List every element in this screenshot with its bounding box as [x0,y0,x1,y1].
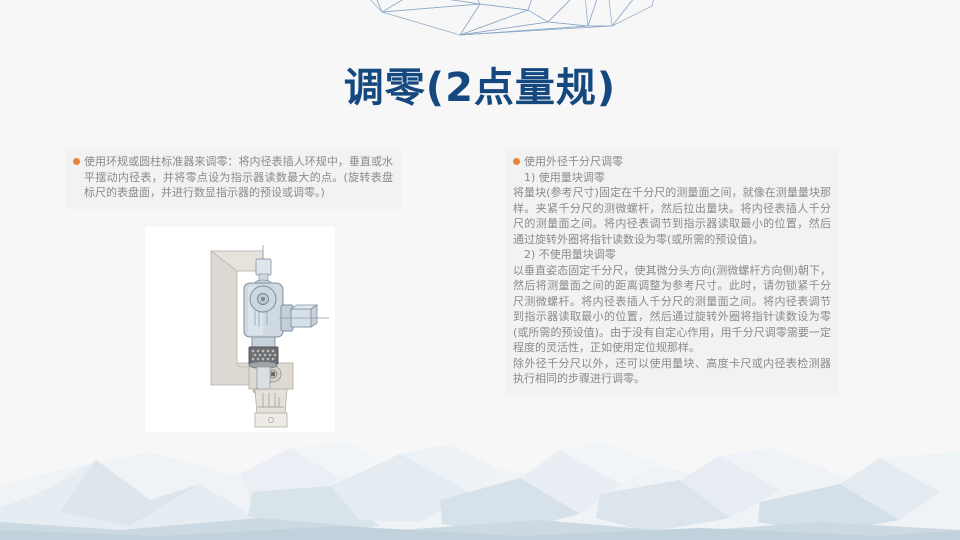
right-text-card: 使用外径千分尺调零 1) 使用量块调零 将量块(参考尺寸)固定在千分尺的测量面之… [505,148,839,395]
right-column: 使用外径千分尺调零 1) 使用量块调零 将量块(参考尺寸)固定在千分尺的测量面之… [505,148,839,395]
section-1-body: 将量块(参考尺寸)固定在千分尺的测量面之间，就像在测量量块那样。夹紧千分尺的测微… [513,185,831,247]
right-bullet-heading: 使用外径千分尺调零 [513,154,831,170]
low-poly-wireframe-graphic [352,0,662,46]
left-text-card: 使用环规或圆柱标准器来调零：将内径表插人环规中，垂直或水平摆动内径表，并将零点设… [65,148,401,209]
left-bullet-paragraph: 使用环规或圆柱标准器来调零：将内径表插人环规中，垂直或水平摆动内径表，并将零点设… [73,154,393,201]
section-2-heading: 2) 不使用量块调零 [513,247,831,263]
left-column: 使用环规或圆柱标准器来调零：将内径表插人环规中，垂直或水平摆动内径表，并将零点设… [65,148,401,209]
left-bullet-text: 使用环规或圆柱标准器来调零：将内径表插人环规中，垂直或水平摆动内径表，并将零点设… [84,155,393,199]
section-2-body: 以垂直姿态固定千分尺，使其微分头方向(测微螺杆方向侧)朝下，然后将测量面之间的距… [513,263,831,356]
right-bullet-heading-text: 使用外径千分尺调零 [524,155,623,168]
bullet-dot-icon [513,158,520,165]
slide-canvas: 调零(2点量规) 使用环规或圆柱标准器来调零：将内径表插人环规中，垂直或水平摆动… [0,0,960,540]
page-title: 调零(2点量规) [0,64,960,112]
micrometer-stand-bore-gauge-illustration [145,227,335,432]
low-poly-mountain-graphic [0,430,960,540]
closing-body: 除外径千分尺以外，还可以使用量块、高度卡尺或内径表检测器执行相同的步骤进行调零。 [513,356,831,387]
section-1-heading: 1) 使用量块调零 [513,170,831,186]
bullet-dot-icon [73,158,80,165]
